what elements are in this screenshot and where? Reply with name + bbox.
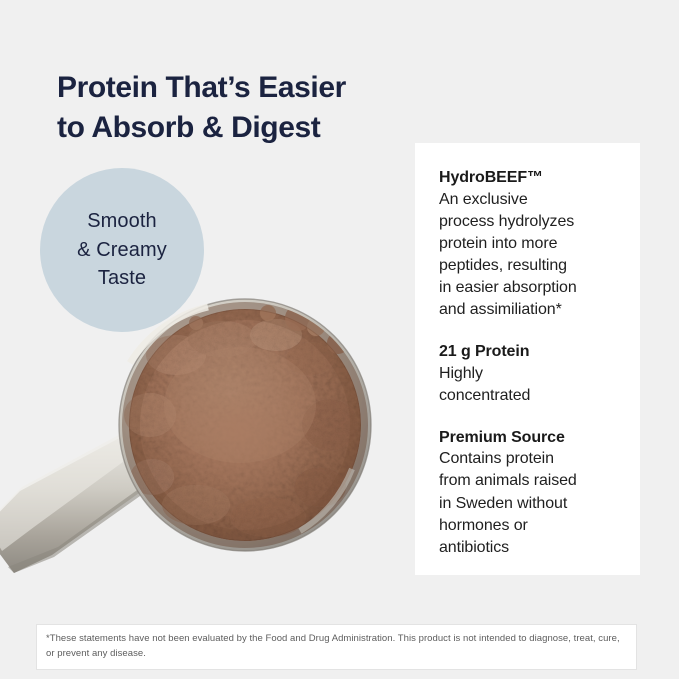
feature-block-premium-source: Premium Source Contains protein from ani… <box>439 427 626 559</box>
badge-line-2: & Creamy <box>77 236 167 264</box>
feature-body: Contains protein from animals raised in … <box>439 448 626 558</box>
feature-block-protein-amount: 21 g Protein Highly concentrated <box>439 341 626 407</box>
headline-line-1: Protein That’s Easier <box>57 68 457 108</box>
page-title: Protein That’s Easier to Absorb & Digest <box>57 68 457 148</box>
feature-body: Highly concentrated <box>439 363 626 407</box>
badge-line-1: Smooth <box>77 207 167 235</box>
feature-body: An exclusive process hydrolyzes protein … <box>439 189 626 321</box>
feature-title: 21 g Protein <box>439 341 626 363</box>
info-panel: HydroBEEF™ An exclusive process hydrolyz… <box>415 143 640 575</box>
feature-title: Premium Source <box>439 427 626 449</box>
badge-line-3: Taste <box>77 264 167 292</box>
product-photo-scoop-with-powder <box>0 255 400 600</box>
badge-label: Smooth & Creamy Taste <box>77 207 167 292</box>
fda-disclaimer: *These statements have not been evaluate… <box>36 624 637 670</box>
feature-title: HydroBEEF™ <box>439 167 626 189</box>
infographic-canvas: Protein That’s Easier to Absorb & Digest… <box>0 0 679 679</box>
info-panel-content: HydroBEEF™ An exclusive process hydrolyz… <box>439 167 626 559</box>
feature-block-hydrobeef: HydroBEEF™ An exclusive process hydrolyz… <box>439 167 626 321</box>
headline-line-2: to Absorb & Digest <box>57 108 457 148</box>
smooth-creamy-taste-badge: Smooth & Creamy Taste <box>40 168 204 332</box>
